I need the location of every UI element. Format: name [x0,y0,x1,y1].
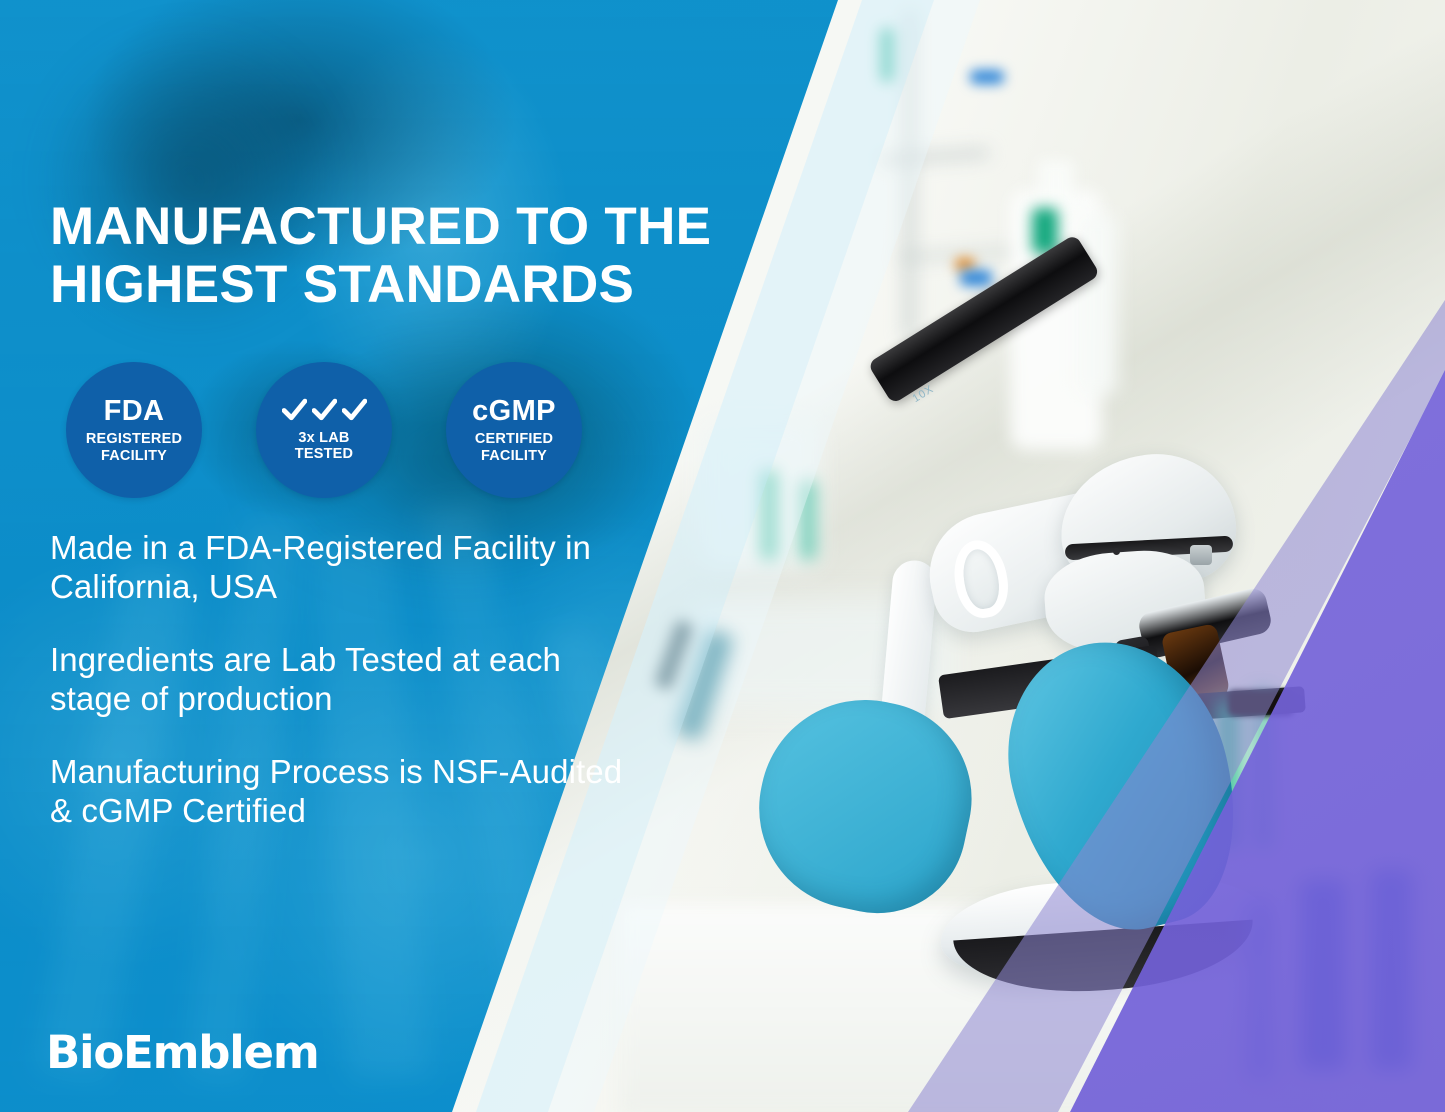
badge-fda-title: FDA [104,396,165,426]
check-icon [312,398,337,423]
certification-badges: FDA REGISTERED FACILITY [66,362,582,498]
body-paragraph-1: Made in a FDA-Registered Facility in Cal… [50,528,630,606]
blue-clip-icon [970,70,1004,84]
check-icon [282,398,307,423]
triple-check-icon [282,398,367,423]
page-title: MANUFACTURED TO THE HIGHEST STANDARDS [50,198,750,314]
reagent-bottle-icon [1078,215,1118,395]
badge-lab-tested-line2: TESTED [295,446,353,463]
badge-lab-tested: 3x LAB TESTED [256,362,392,498]
blue-clip-icon [960,270,992,286]
badge-cgmp-subtitle: CERTIFIED FACILITY [475,431,553,464]
body-paragraph-2: Ingredients are Lab Tested at each stage… [50,640,630,718]
reagent-bottle-neck-icon [1038,160,1074,210]
badge-cgmp: cGMP CERTIFIED FACILITY [446,362,582,498]
badge-fda-subtitle-line1: REGISTERED [86,431,182,448]
badge-cgmp-title: cGMP [472,396,556,426]
badge-fda-subtitle: REGISTERED FACILITY [86,431,182,464]
microscope-screw-icon [1113,548,1120,555]
check-icon [342,398,367,423]
badge-cgmp-subtitle-line1: CERTIFIED [475,431,553,448]
poster-content: MANUFACTURED TO THE HIGHEST STANDARDS FD… [0,0,838,1112]
microscope-knob-icon [1190,545,1212,565]
badge-lab-tested-subtitle: 3x LAB TESTED [295,430,353,463]
brand-logo: BioEmblem [46,1026,319,1079]
badge-fda-subtitle-line2: FACILITY [86,448,182,465]
badge-lab-tested-line1: 3x LAB [295,430,353,447]
badge-fda: FDA REGISTERED FACILITY [66,362,202,498]
body-paragraph-3: Manufacturing Process is NSF-Audited & c… [50,752,630,830]
badge-cgmp-subtitle-line2: FACILITY [475,448,553,465]
body-copy: Made in a FDA-Registered Facility in Cal… [50,528,630,830]
marketing-poster: 10X [0,0,1445,1112]
